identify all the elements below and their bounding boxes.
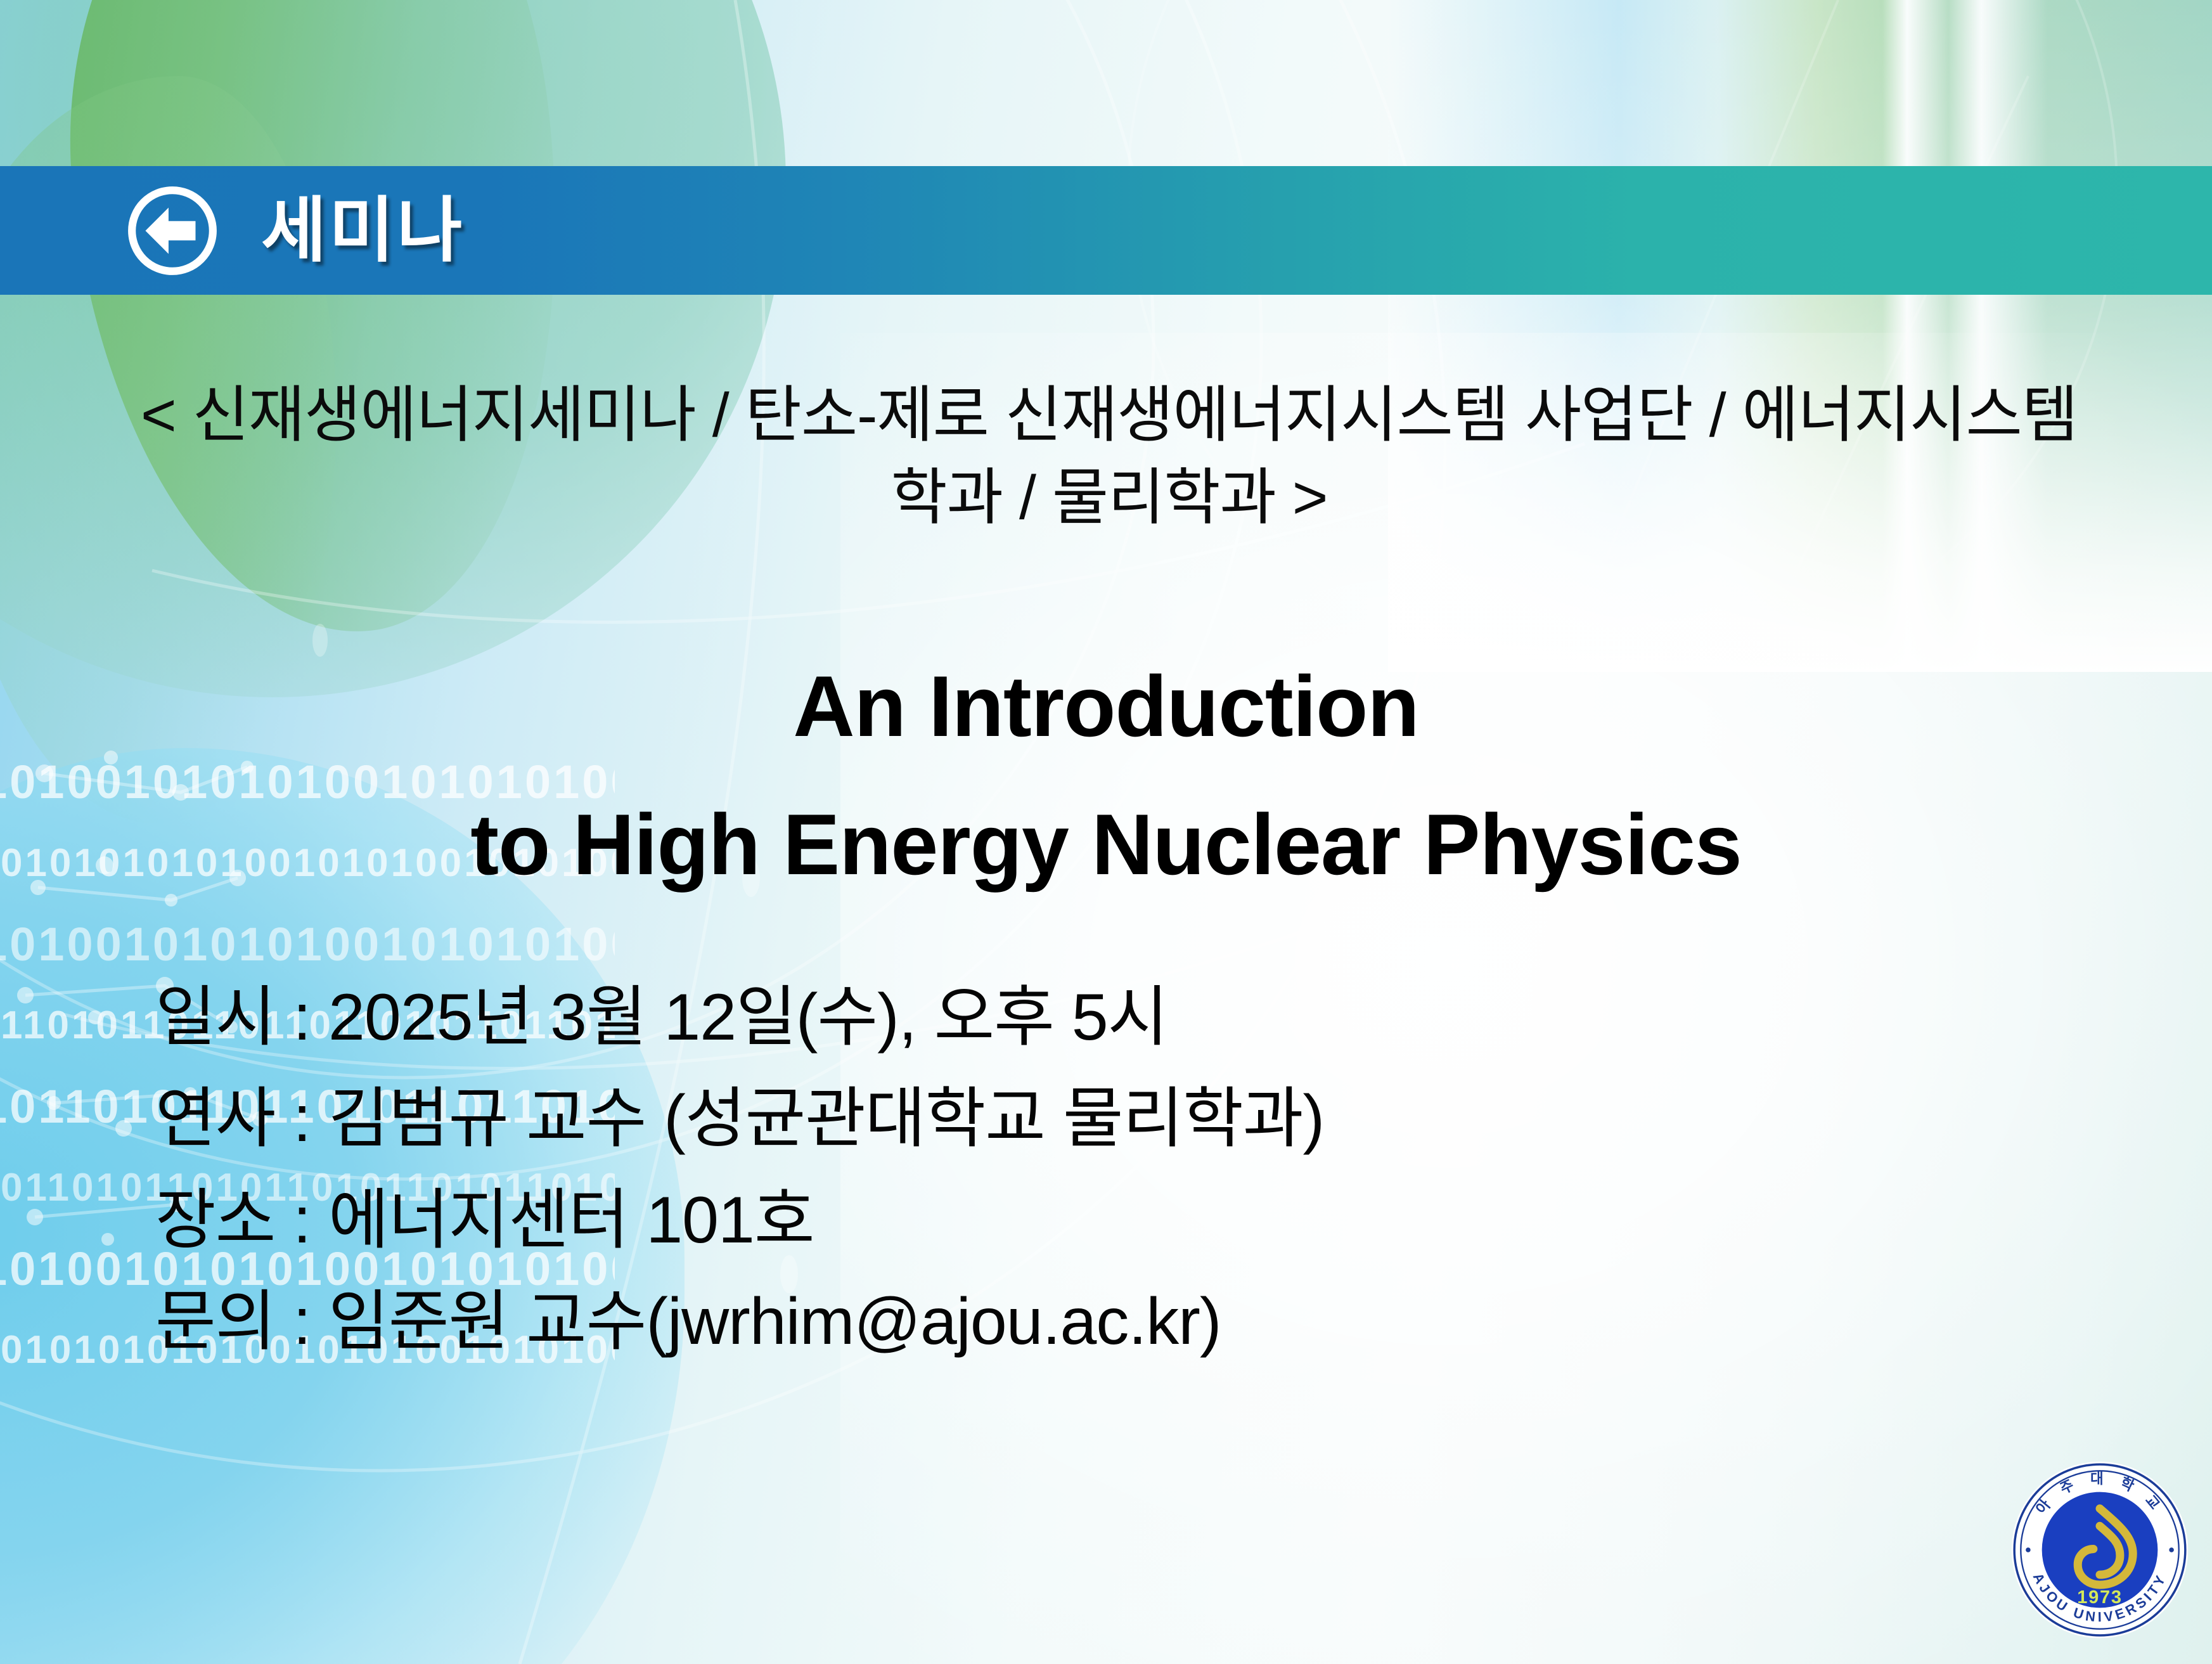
- ajou-university-logo: 1973 아 주 대 학 교 AJOU UNIVERSITY: [2008, 1458, 2192, 1642]
- page-title-line-2: to High Energy Nuclear Physics: [11, 775, 2201, 913]
- detail-speaker: 연사 : 김범규 교수 (성균관대학교 물리학과): [155, 1068, 1324, 1170]
- detail-date: 일시 : 2025년 3월 12일(수), 오후 5시: [155, 967, 1324, 1068]
- seminar-poster: 1010010101010010101010010101 01010101010…: [0, 0, 2212, 1664]
- page-title-line-1: An Introduction: [11, 637, 2201, 775]
- back-arrow-circle-icon[interactable]: [124, 183, 221, 279]
- breadcrumb-line-1: < 신재생에너지세미나 / 탄소-제로 신재생에너지시스템 사업단 /: [141, 380, 1726, 449]
- detail-venue: 장소 : 에너지센터 101호: [155, 1170, 1324, 1271]
- breadcrumb: < 신재생에너지세미나 / 탄소-제로 신재생에너지시스템 사업단 / 에너지시…: [120, 374, 2098, 539]
- seminar-details: 일시 : 2025년 3월 12일(수), 오후 5시 연사 : 김범규 교수 …: [155, 967, 1324, 1372]
- poster-content: < 신재생에너지세미나 / 탄소-제로 신재생에너지시스템 사업단 / 에너지시…: [0, 295, 2212, 1664]
- page-title: An Introduction to High Energy Nuclear P…: [11, 637, 2201, 913]
- header-title: 세미나: [261, 195, 465, 266]
- header-bar: 세미나: [0, 166, 2212, 295]
- detail-contact: 문의 : 임준원 교수(jwrhim@ajou.ac.kr): [155, 1271, 1324, 1372]
- logo-year: 1973: [2077, 1587, 2122, 1608]
